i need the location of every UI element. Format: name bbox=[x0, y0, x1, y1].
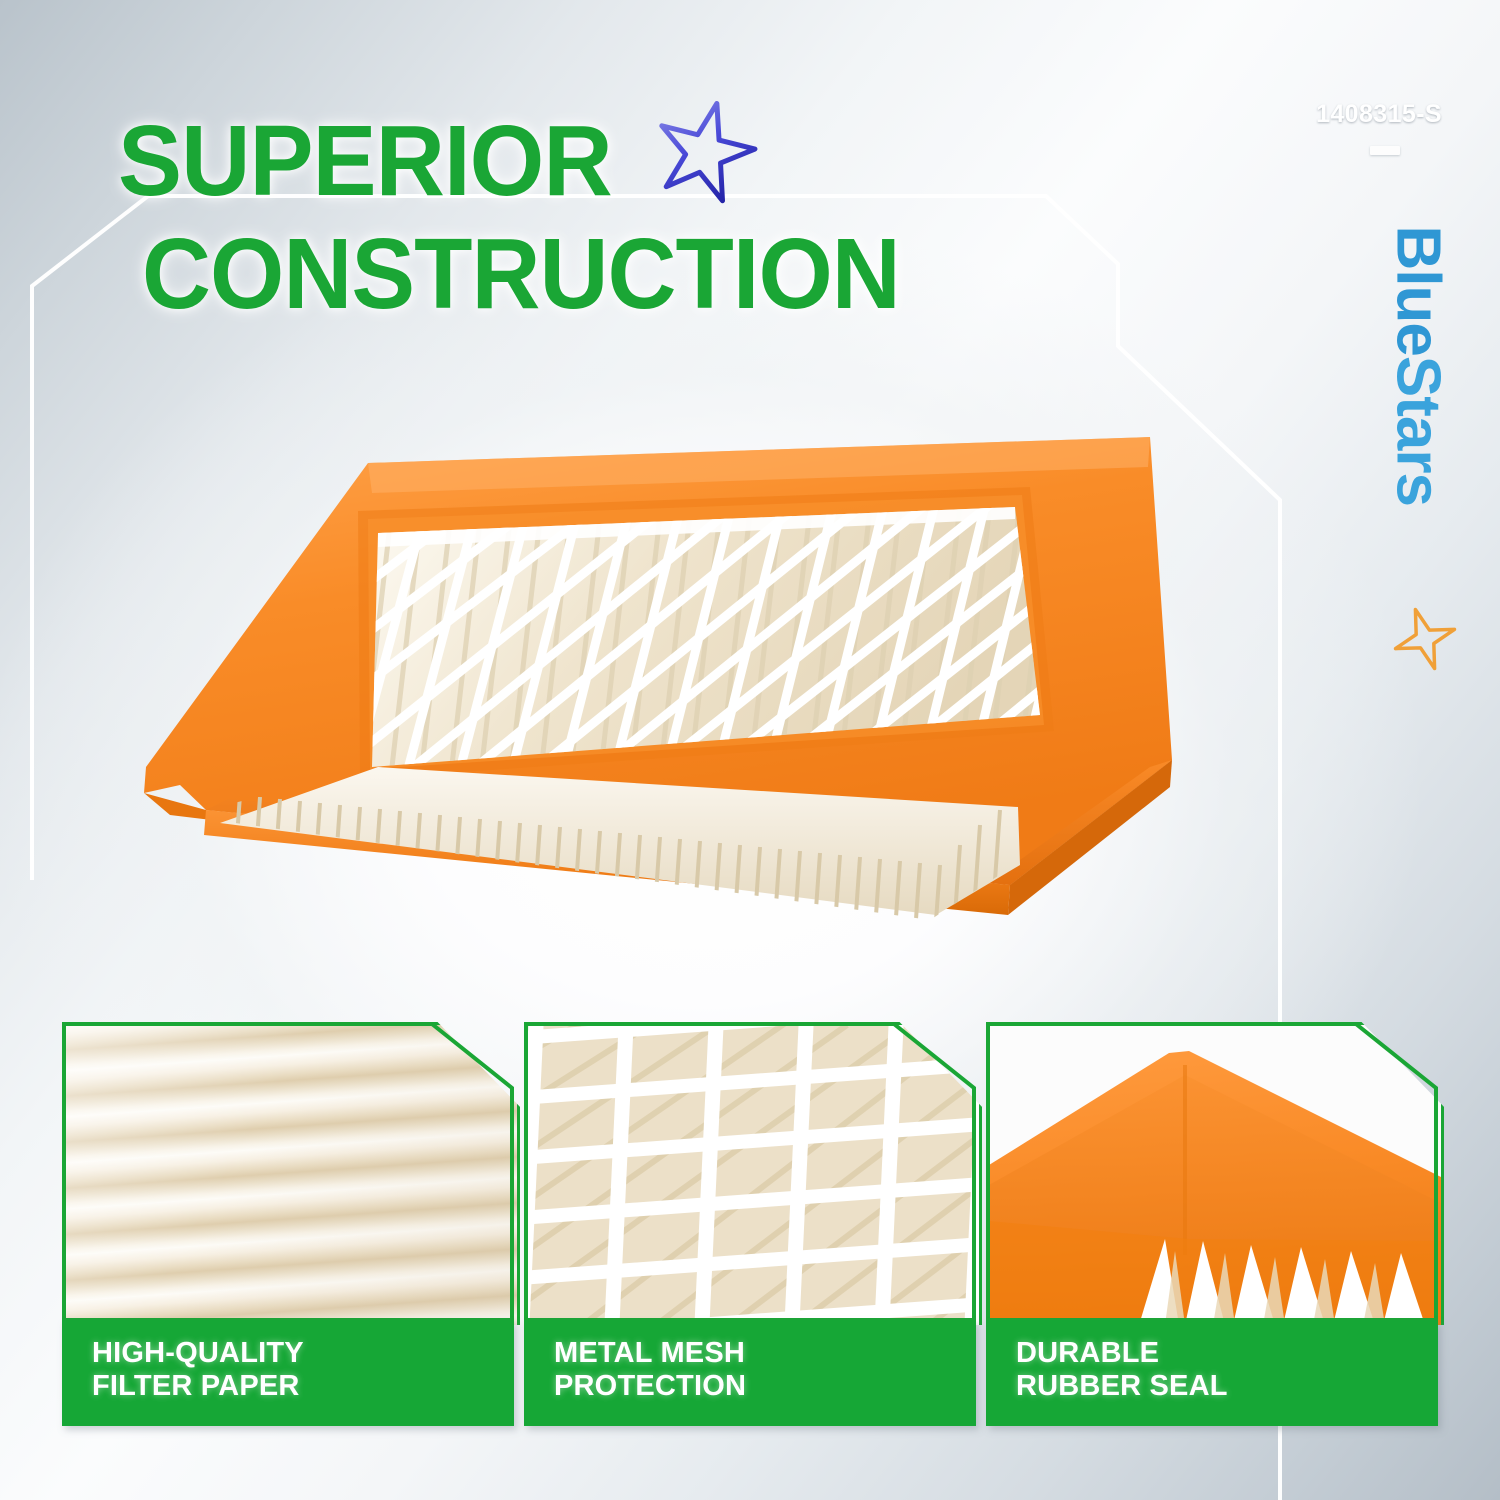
rubber-seal-texture bbox=[989, 1025, 1441, 1325]
feature-label-line-1: METAL MESH bbox=[524, 1320, 976, 1370]
metal-mesh-texture bbox=[527, 1025, 979, 1325]
four-point-star-icon bbox=[1392, 606, 1458, 672]
feature-panels: HIGH-QUALITY FILTER PAPER bbox=[0, 1022, 1500, 1432]
part-number: 1408315-S bbox=[1316, 100, 1442, 129]
star-decoration-icon bbox=[650, 96, 760, 206]
header-divider-dash bbox=[1370, 146, 1400, 155]
feature-image-rubber-seal bbox=[986, 1022, 1444, 1325]
feature-label-line-2: PROTECTION bbox=[524, 1370, 976, 1403]
feature-panel-metal-mesh[interactable]: METAL MESH PROTECTION bbox=[524, 1022, 976, 1426]
headline-line-1: SUPERIOR bbox=[118, 112, 1078, 211]
page-title: SUPERIOR CONSTRUCTION bbox=[118, 112, 1118, 324]
brand-logo-blue: Blue bbox=[1384, 226, 1453, 356]
feature-label-metal-mesh: METAL MESH PROTECTION bbox=[524, 1320, 976, 1426]
brand-logo-stars: Stars bbox=[1384, 356, 1453, 506]
feature-image-metal-mesh bbox=[524, 1022, 982, 1325]
marketing-image-canvas: SUPERIOR CONSTRUCTION 1408315-S BlueStar… bbox=[0, 0, 1500, 1500]
feature-panel-rubber-seal[interactable]: DURABLE RUBBER SEAL bbox=[986, 1022, 1438, 1426]
feature-label-line-1: DURABLE bbox=[986, 1320, 1438, 1370]
filter-paper-texture bbox=[65, 1025, 517, 1325]
feature-label-rubber-seal: DURABLE RUBBER SEAL bbox=[986, 1320, 1438, 1426]
headline-line-2: CONSTRUCTION bbox=[142, 225, 1074, 324]
product-photo-air-filter bbox=[110, 415, 1200, 975]
feature-label-filter-paper: HIGH-QUALITY FILTER PAPER bbox=[62, 1320, 514, 1426]
feature-label-line-2: RUBBER SEAL bbox=[986, 1370, 1438, 1403]
feature-label-line-1: HIGH-QUALITY bbox=[62, 1320, 514, 1370]
brand-logo: BlueStars bbox=[1356, 250, 1476, 670]
feature-image-filter-paper bbox=[62, 1022, 520, 1325]
air-filter-illustration bbox=[110, 415, 1200, 975]
feature-label-line-2: FILTER PAPER bbox=[62, 1370, 514, 1403]
brand-logo-text: BlueStars bbox=[1383, 226, 1454, 626]
feature-panel-filter-paper[interactable]: HIGH-QUALITY FILTER PAPER bbox=[62, 1022, 514, 1426]
